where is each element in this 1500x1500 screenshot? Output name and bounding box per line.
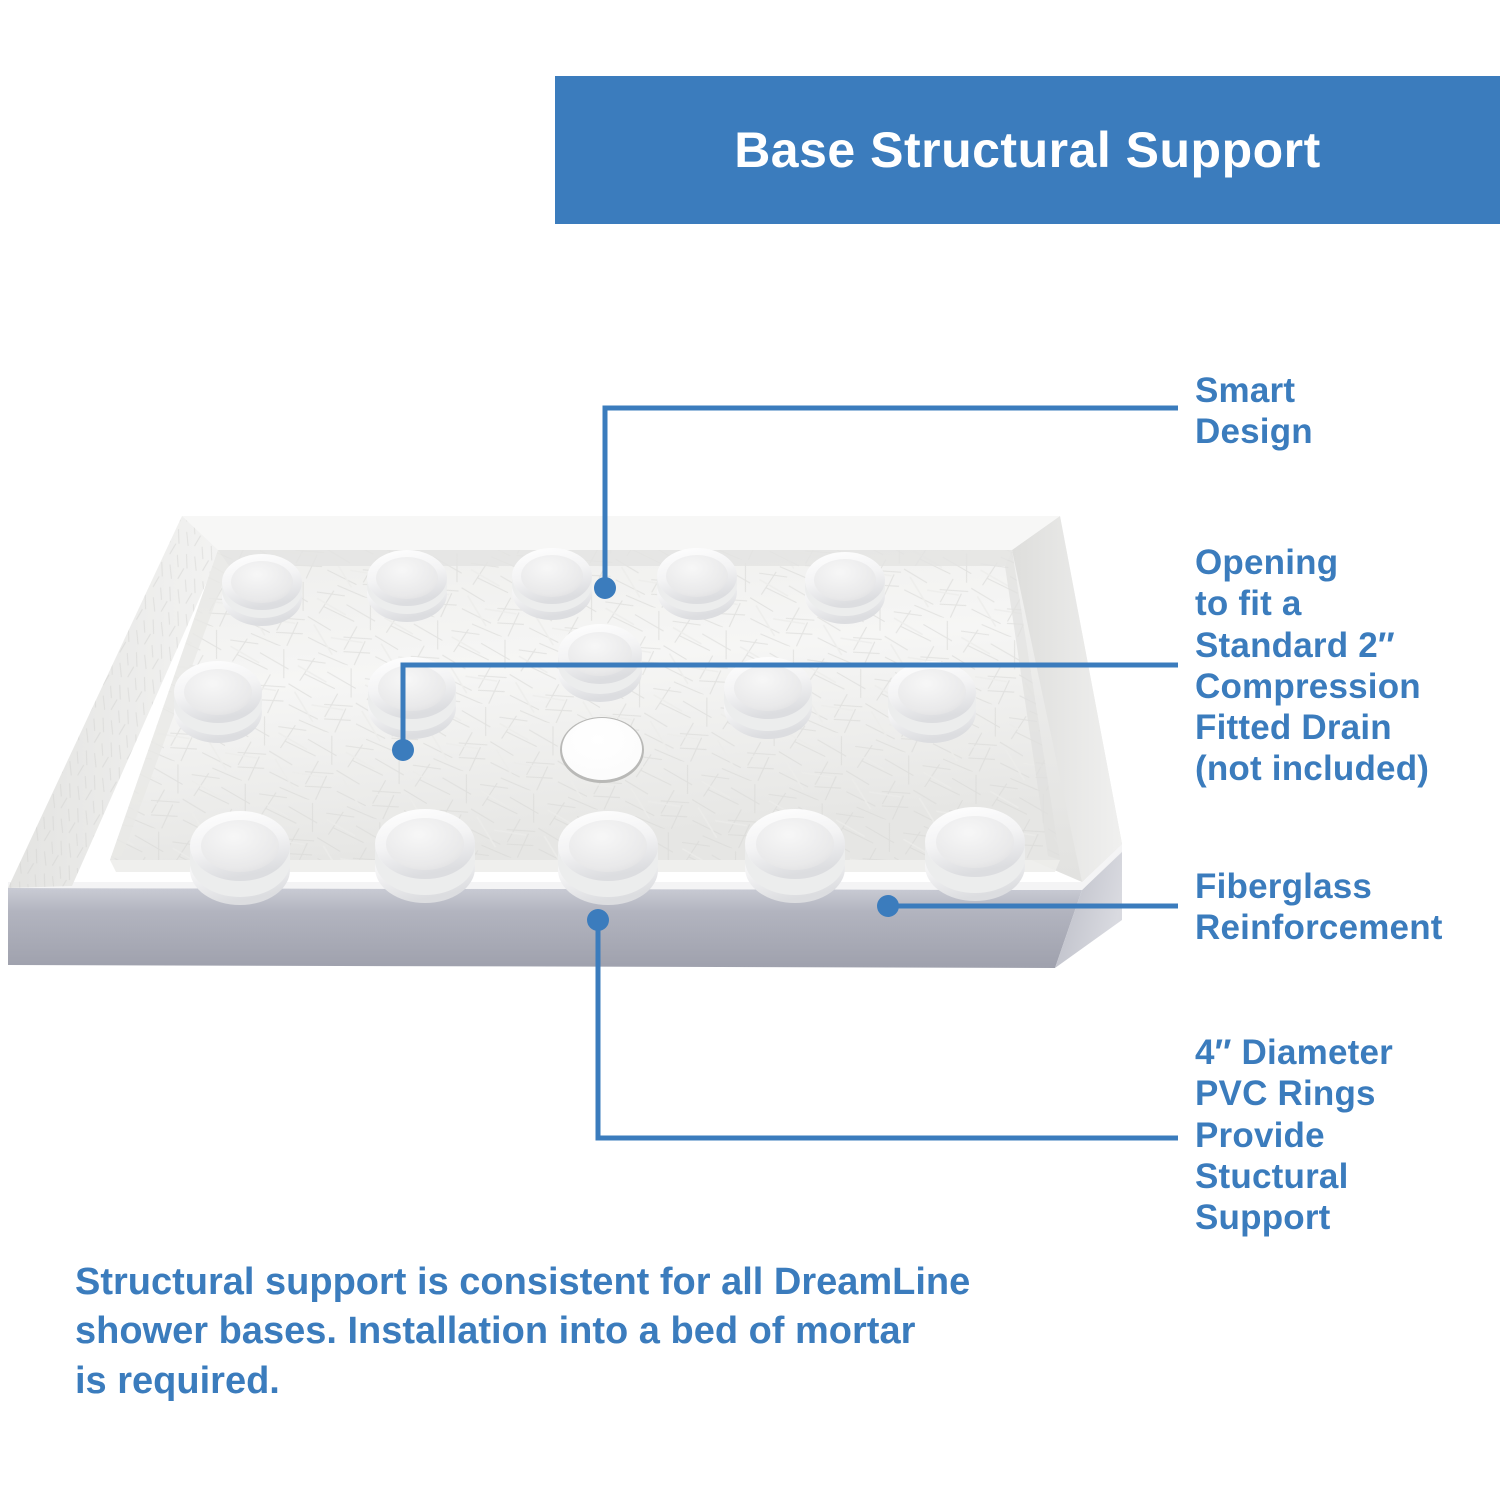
pvc-ring (888, 661, 976, 743)
header-banner: Base Structural Support (555, 76, 1500, 224)
pvc-ring (174, 661, 262, 743)
page-title: Base Structural Support (555, 121, 1500, 179)
pvc-ring (925, 807, 1025, 901)
pvc-ring (222, 554, 302, 626)
pvc-ring (375, 809, 475, 903)
pvc-ring (190, 811, 290, 905)
pvc-ring (745, 809, 845, 903)
drain-opening (560, 717, 644, 783)
callout-label-fiberglass: Fiberglass Reinforcement (1195, 866, 1443, 949)
pvc-ring (805, 552, 885, 624)
callout-label-pvc-rings: 4″ Diameter PVC Rings Provide Stuctural … (1195, 1032, 1393, 1238)
pvc-ring (367, 550, 447, 622)
callout-label-smart-design: Smart Design (1195, 370, 1313, 453)
footer-note: Structural support is consistent for all… (75, 1258, 1035, 1406)
product-illustration (0, 420, 1180, 1080)
shower-base-graphic (0, 420, 1180, 1080)
pvc-ring (558, 624, 642, 702)
callout-label-drain-opening: Opening to fit a Standard 2″ Compression… (1195, 542, 1429, 790)
pvc-ring (724, 657, 812, 739)
pvc-ring (368, 657, 456, 739)
pvc-ring (512, 548, 592, 620)
pvc-ring (657, 548, 737, 620)
pvc-ring (558, 811, 658, 905)
